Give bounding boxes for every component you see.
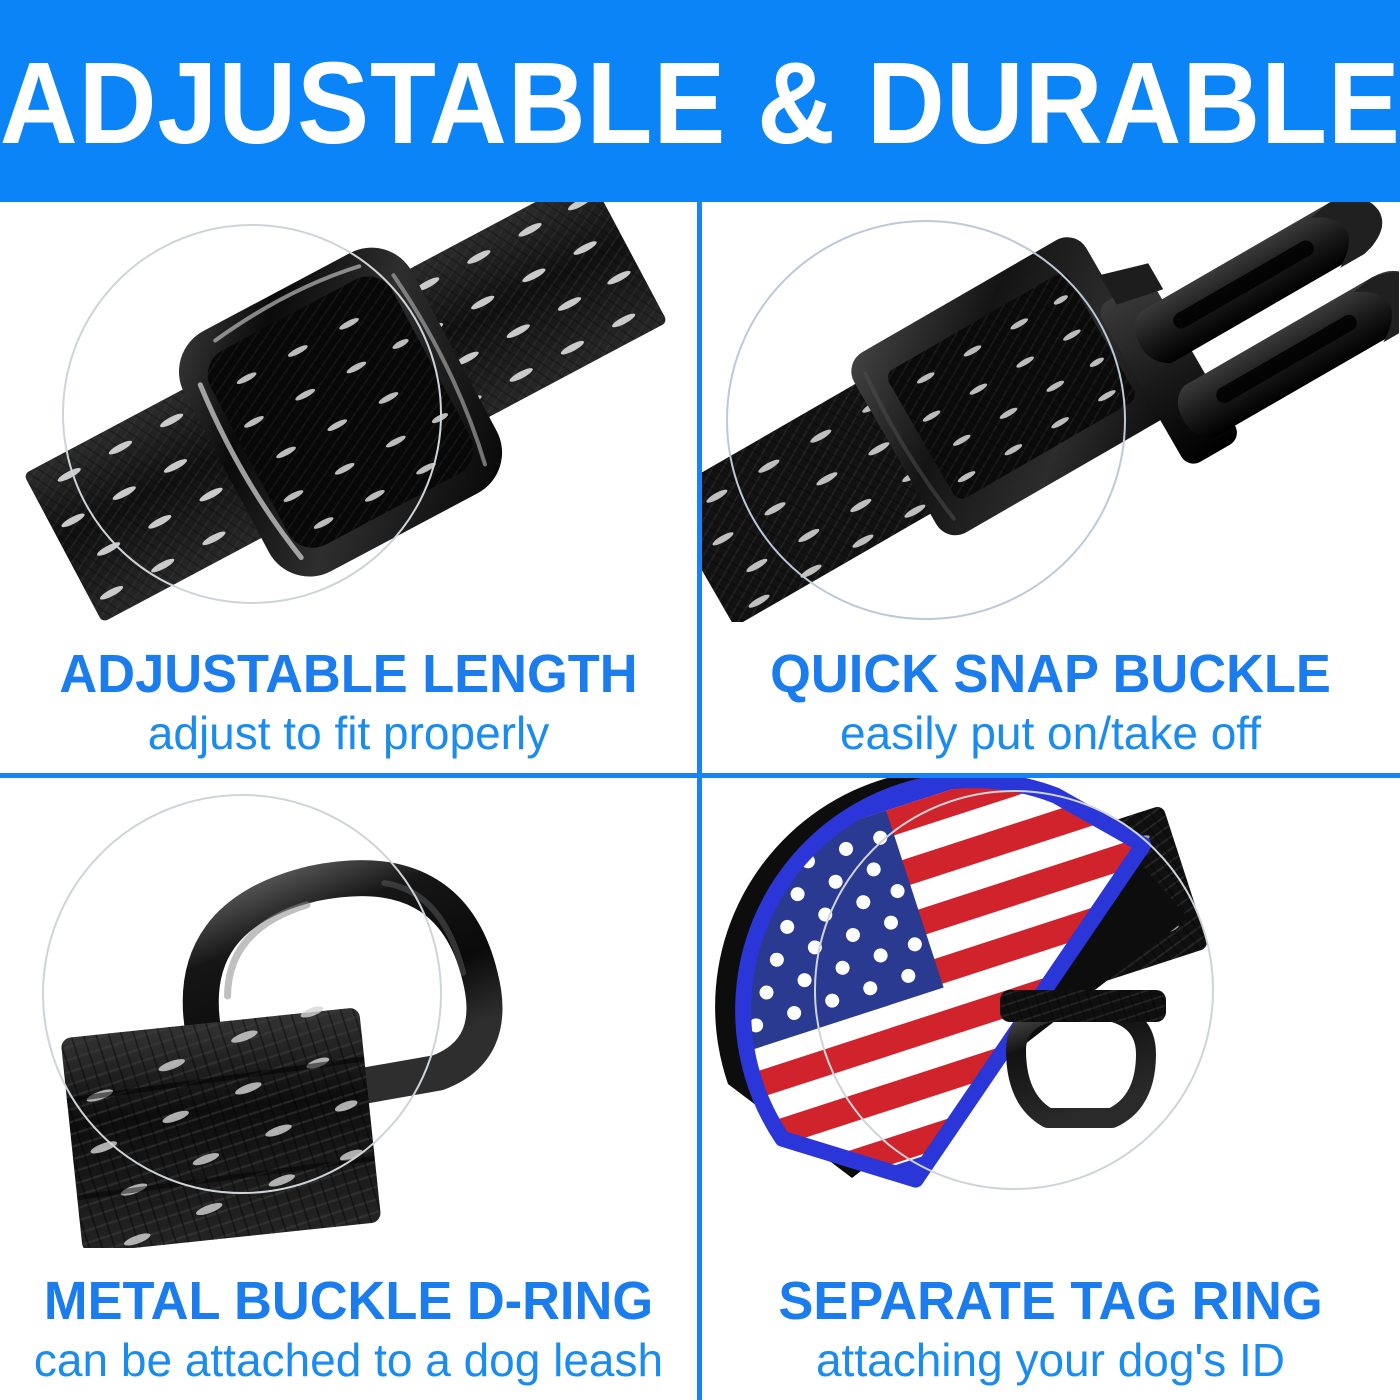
feature-title: QUICK SNAP BUCKLE (712, 645, 1388, 703)
feature-cell-separate-tag-ring: SEPARATE TAG RING attaching your dog's I… (702, 778, 1399, 1400)
feature-subtitle: can be attached to a dog leash (0, 1334, 697, 1386)
webbing-strap-slider-photo (0, 202, 697, 645)
caption-adjustable-length: ADJUSTABLE LENGTH adjust to fit properly (0, 645, 697, 773)
feature-title: SEPARATE TAG RING (712, 1272, 1388, 1330)
d-ring-illustration (0, 778, 697, 1248)
caption-separate-tag-ring: SEPARATE TAG RING attaching your dog's I… (702, 1272, 1399, 1400)
flag-patch-illustration (702, 778, 1399, 1248)
header-banner: ADJUSTABLE & DURABLE (0, 0, 1400, 202)
caption-quick-snap-buckle: QUICK SNAP BUCKLE easily put on/take off (702, 645, 1399, 773)
feature-cell-quick-snap-buckle: QUICK SNAP BUCKLE easily put on/take off (702, 202, 1399, 773)
feature-grid: ADJUSTABLE LENGTH adjust to fit properly (0, 202, 1400, 1400)
strap-slider-illustration (0, 202, 697, 622)
page-title: ADJUSTABLE & DURABLE (0, 45, 1400, 161)
feature-title: METAL BUCKLE D-RING (10, 1272, 686, 1330)
feature-cell-adjustable-length: ADJUSTABLE LENGTH adjust to fit properly (0, 202, 697, 773)
feature-title: ADJUSTABLE LENGTH (10, 645, 686, 703)
buckle-illustration (702, 202, 1399, 622)
feature-subtitle: adjust to fit properly (0, 707, 697, 759)
metal-d-ring-photo (0, 778, 697, 1272)
feature-cell-metal-buckle-d-ring: METAL BUCKLE D-RING can be attached to a… (0, 778, 697, 1400)
side-release-buckle-photo (702, 202, 1399, 645)
usa-flag-patch-tag-ring-photo (702, 778, 1399, 1272)
product-feature-infographic: ADJUSTABLE & DURABLE (0, 0, 1400, 1400)
feature-subtitle: attaching your dog's ID (702, 1334, 1399, 1386)
feature-subtitle: easily put on/take off (702, 707, 1399, 759)
caption-metal-buckle-d-ring: METAL BUCKLE D-RING can be attached to a… (0, 1272, 697, 1400)
